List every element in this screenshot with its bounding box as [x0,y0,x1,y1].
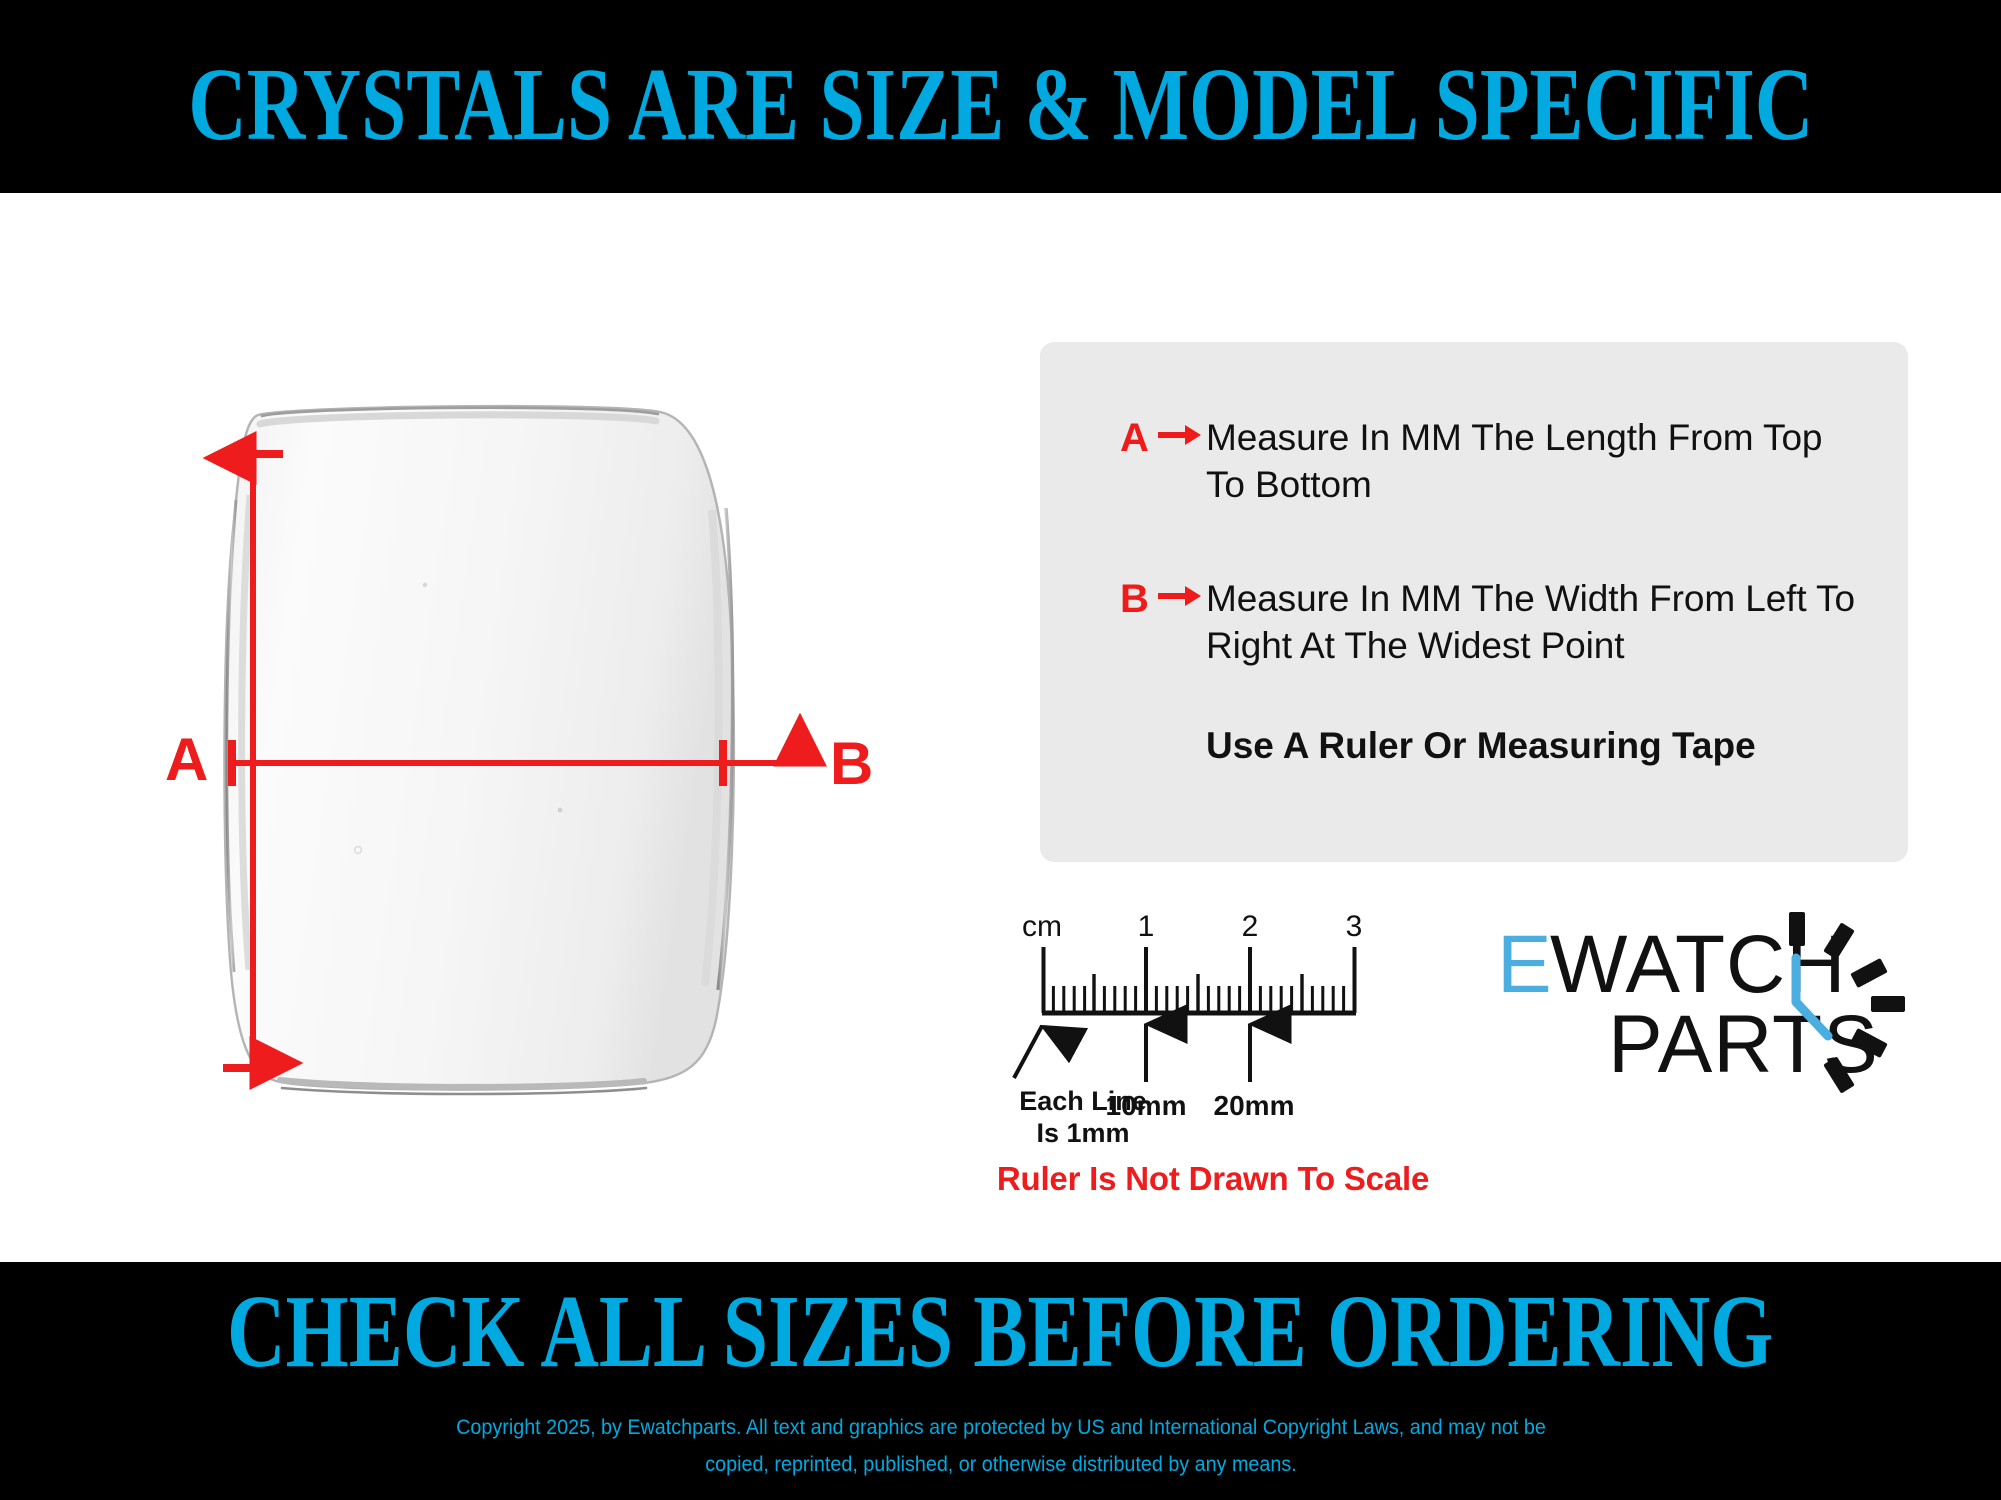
copyright-line-1: Copyright 2025, by Ewatchparts. All text… [267,1410,1733,1447]
header-title: CRYSTALS ARE SIZE & MODEL SPECIFIC [188,53,1813,157]
footer-title: CHECK ALL SIZES BEFORE ORDERING [227,1280,1773,1384]
crystal-glass [224,406,733,1094]
crystal-diagram: A B [140,380,970,1100]
instruction-panel: A Measure In MM The Length From Top To B… [1040,342,1908,862]
ruler-label-cm: cm [1022,910,1062,943]
instruction-letter-b: B [1120,575,1154,619]
logo-initial: E [1497,919,1553,1010]
ruler-ticks [1042,947,1356,1013]
ruler-caption: Each Line Is 1mm [978,1085,1188,1150]
crystal-diagram-svg: A B [140,380,970,1100]
ruler-pointer-arrows [1014,1024,1250,1082]
arrow-right-icon [1154,575,1206,609]
copyright-notice: Copyright 2025, by Ewatchparts. All text… [267,1410,1733,1484]
footer-banner: CHECK ALL SIZES BEFORE ORDERING Copyrigh… [0,1262,2001,1500]
ruler-number-labels: cm 1 2 3 [1022,910,1362,943]
ruler-scale-note: Ruler Is Not Drawn To Scale [978,1160,1448,1198]
dimension-a-label: A [165,726,208,793]
instruction-row-b: B Measure In MM The Width From Left To R… [1120,575,1908,670]
instruction-note: Use A Ruler Or Measuring Tape [1206,725,1908,767]
poster-root: CRYSTALS ARE SIZE & MODEL SPECIFIC [0,0,2001,1500]
instruction-letter-a: A [1120,414,1154,458]
instruction-row-a: A Measure In MM The Length From Top To B… [1120,414,1908,509]
instruction-text-a: Measure In MM The Length From Top To Bot… [1206,414,1866,509]
header-banner: CRYSTALS ARE SIZE & MODEL SPECIFIC [0,0,2001,193]
arrow-right-icon [1154,414,1206,448]
ruler-arrow-label-20mm: 20mm [1214,1090,1295,1121]
ruler-caption-line1: Each Line [978,1085,1188,1117]
brand-logo: E WATCH PARTS [1495,910,1925,1120]
ruler-label-2: 2 [1242,910,1259,943]
instruction-text-b: Measure In MM The Width From Left To Rig… [1206,575,1866,670]
ruler-label-1: 1 [1138,910,1155,943]
ruler-label-3: 3 [1346,910,1363,943]
brand-logo-svg: E WATCH PARTS [1495,910,1925,1120]
copyright-line-2: copied, reprinted, published, or otherwi… [267,1447,1733,1484]
dimension-b-label: B [830,730,873,797]
ruler-caption-line2: Is 1mm [978,1117,1188,1149]
